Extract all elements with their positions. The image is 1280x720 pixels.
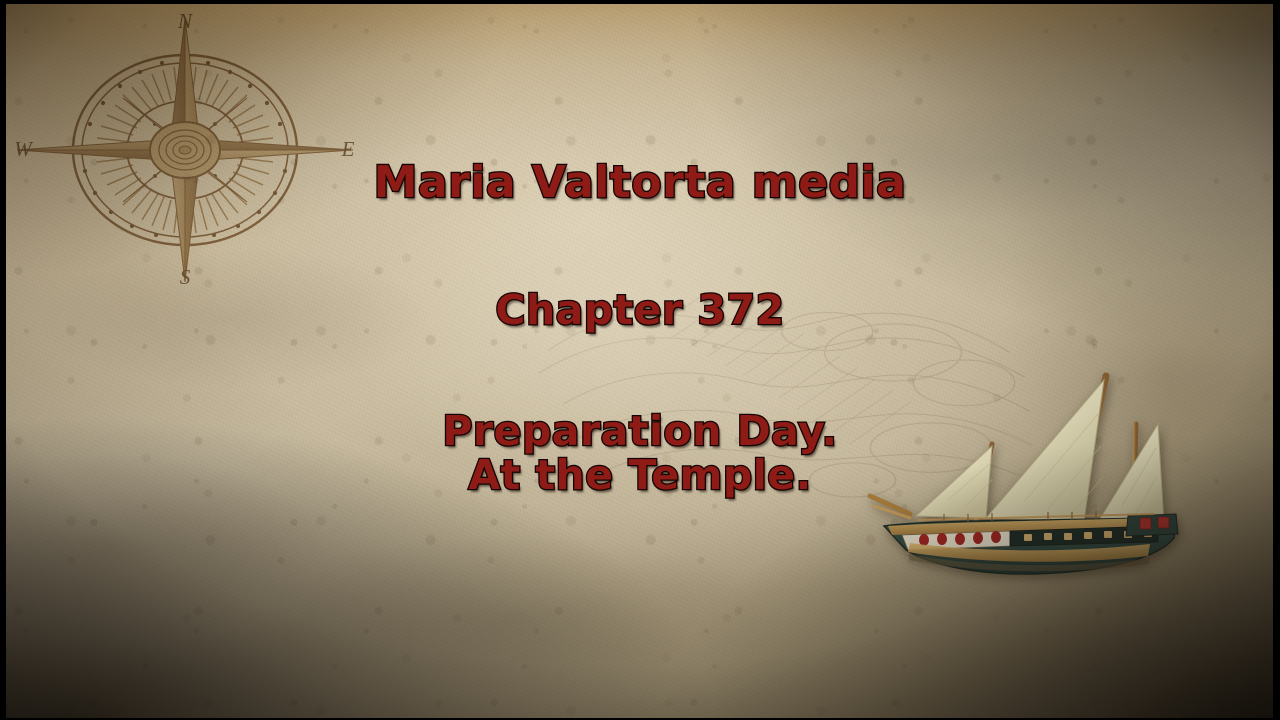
paper-stain-layer [6,4,1273,718]
map-engraving-icon [513,261,1070,547]
parchment-background: N E S W [6,4,1273,718]
letterbox-left [0,0,6,720]
compass-label-east: E [341,137,355,161]
text-bloom [306,154,926,554]
compass-label-north: N [177,10,193,33]
letterbox-top [0,0,1280,4]
compass-label-south: S [180,265,191,289]
letterbox-right [1273,0,1280,720]
compass-rose-icon: N E S W [10,10,360,295]
paper-grain-layer-b [6,4,1273,718]
sailing-ship-icon [858,366,1188,596]
title-card-stage: N E S W [0,0,1280,720]
vignette-overlay [6,4,1273,718]
compass-label-west: W [14,137,34,161]
paper-grain-layer-a [6,4,1273,718]
